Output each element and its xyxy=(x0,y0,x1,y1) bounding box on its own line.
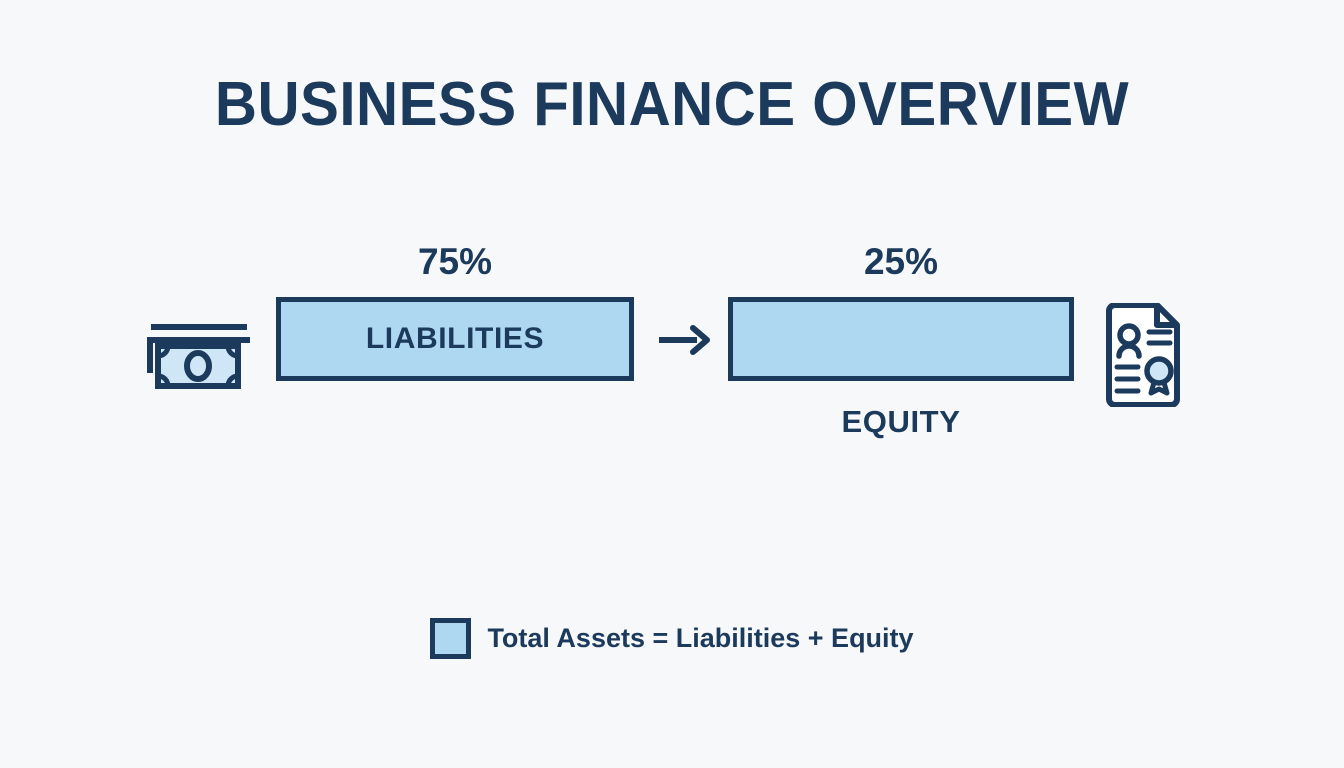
equity-percent-label: 25% xyxy=(728,243,1074,280)
liabilities-bar[interactable]: LIABILITIES xyxy=(276,297,634,381)
equity-bar[interactable] xyxy=(728,297,1074,381)
certificate-icon xyxy=(1100,303,1186,407)
legend-label: Total Assets = Liabilities + Equity xyxy=(487,625,913,652)
slide-canvas: BUSINESS FINANCE OVERVIEW 75% LIAB xyxy=(0,0,1344,768)
legend: Total Assets = Liabilities + Equity xyxy=(0,618,1344,659)
equity-bar-label: EQUITY xyxy=(728,406,1074,437)
legend-swatch xyxy=(430,618,471,659)
liabilities-bar-label: LIABILITIES xyxy=(281,302,629,376)
right-arrow-icon xyxy=(657,320,711,360)
money-stack-icon xyxy=(146,320,250,390)
liabilities-percent-label: 75% xyxy=(276,243,634,280)
